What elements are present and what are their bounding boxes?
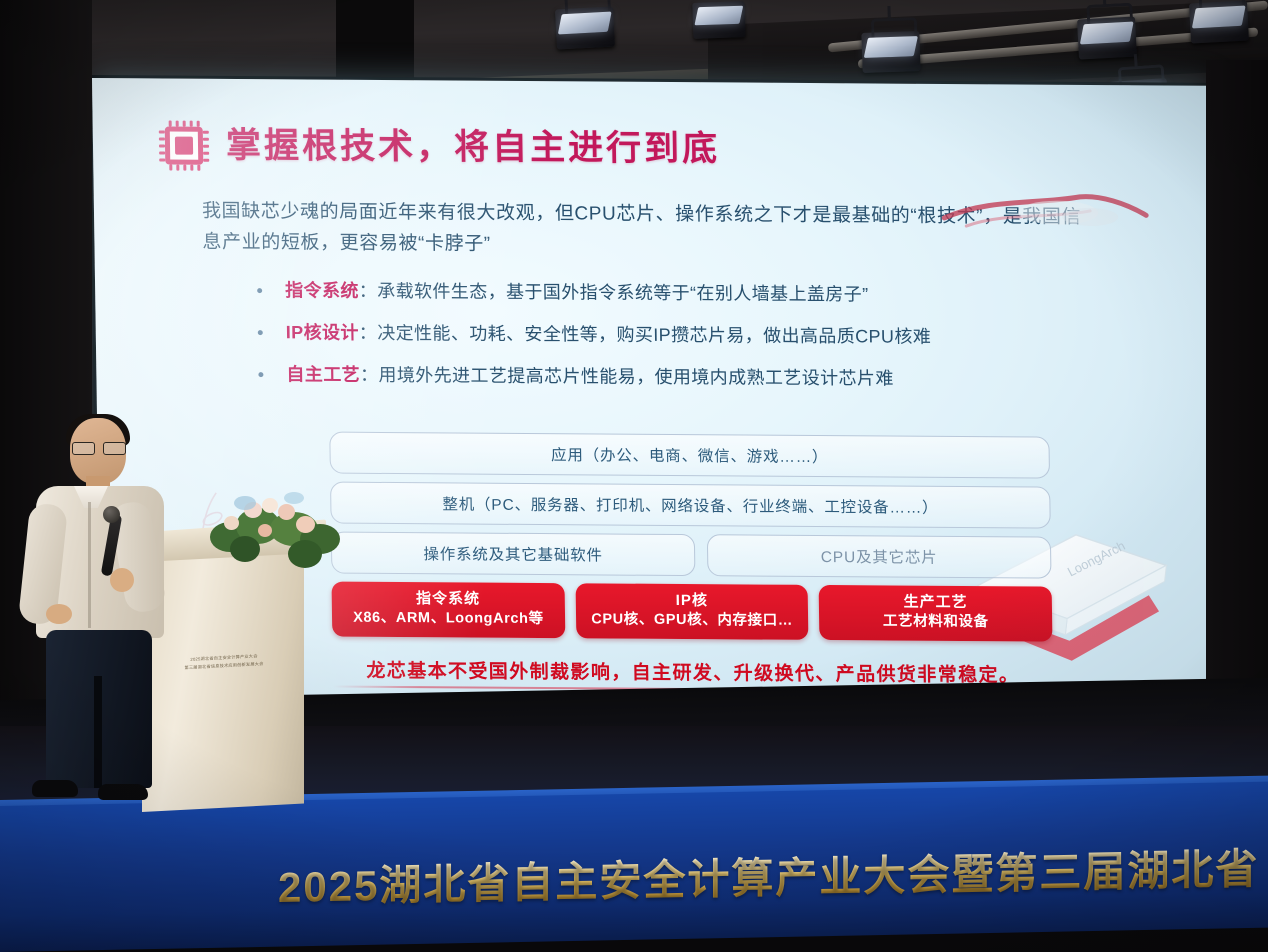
glasses-icon — [72, 442, 124, 453]
root-tech-title: IP核 — [579, 591, 804, 611]
bullet-sep: ： — [359, 281, 378, 301]
chip-icon — [159, 120, 210, 170]
bullet-sep: ： — [359, 323, 378, 343]
conference-photo-scene: 掌握根技术，将自主进行到底 我国缺芯少魂的局面近年来有很大改观，但CPU芯片、操… — [0, 0, 1268, 952]
root-tech-detail: X86、ARM、LoongArch等 — [336, 608, 561, 628]
bullet-text: 用境外先进工艺提高芯片性能易，使用境内成熟工艺设计芯片难 — [378, 365, 894, 389]
bullet-text: 决定性能、功耗、安全性等，购买IP攒芯片易，做出高品质CPU核难 — [377, 323, 931, 347]
speaker-figure — [10, 418, 180, 810]
stack-layer-os: 操作系统及其它基础软件 — [331, 532, 696, 577]
ribbon-watermark-icon — [940, 192, 1151, 239]
slide-title: 掌握根技术，将自主进行到底 — [226, 117, 721, 171]
right-dark-wall — [1206, 60, 1268, 760]
bullet-list: 指令系统：承载软件生态，基于国外指令系统等于“在别人墙基上盖房子” IP核设计：… — [243, 277, 1125, 409]
bullet-sep: ： — [360, 365, 379, 385]
root-tech-detail: CPU核、GPU核、内存接口… — [580, 610, 805, 630]
root-tech-title: 生产工艺 — [823, 593, 1048, 613]
list-item: 指令系统：承载软件生态，基于国外指令系统等于“在别人墙基上盖房子” — [243, 277, 1124, 311]
root-tech-instruction-set: 指令系统 X86、ARM、LoongArch等 — [331, 582, 565, 638]
speaker-right-hand — [110, 568, 134, 592]
microphone-head-icon — [103, 506, 120, 523]
root-tech-detail: 工艺材料和设备 — [823, 612, 1048, 632]
stage-light-icon — [1077, 17, 1137, 60]
root-tech-row: 指令系统 X86、ARM、LoongArch等 IP核 CPU核、GPU核、内存… — [331, 582, 1052, 642]
flower-arrangement — [200, 490, 350, 576]
root-tech-manufacturing: 生产工艺 工艺材料和设备 — [819, 585, 1053, 641]
stack-layer-machine: 整机（PC、服务器、打印机、网络设备、行业终端、工控设备……） — [330, 482, 1051, 529]
bullet-term: 自主工艺 — [286, 364, 360, 385]
root-tech-ip-core: IP核 CPU核、GPU核、内存接口… — [575, 583, 809, 639]
speaker-right-shoe — [98, 784, 148, 800]
list-item: 自主工艺：用境外先进工艺提高芯片性能易，使用境内成熟工艺设计芯片难 — [244, 361, 1125, 395]
tech-stack-diagram: 应用（办公、电商、微信、游戏……） 整机（PC、服务器、打印机、网络设备、行业终… — [329, 432, 1052, 642]
bullet-term: 指令系统 — [285, 280, 359, 301]
podium-sign-line2: 第三届湖北省信息技术应用创新发展大会 — [185, 661, 264, 671]
stage-light-icon — [555, 7, 615, 50]
speaker-left-hand — [46, 604, 72, 624]
stage-light-icon — [692, 1, 745, 39]
stack-layer-application: 应用（办公、电商、微信、游戏……） — [329, 432, 1050, 479]
root-tech-title: 指令系统 — [336, 590, 561, 610]
stage-light-icon — [1189, 1, 1249, 44]
stack-row-os-cpu: 操作系统及其它基础软件 CPU及其它芯片 — [331, 532, 1052, 579]
bullet-term: IP核设计 — [286, 322, 359, 343]
speaker-leg-gap — [94, 676, 102, 788]
stage-light-icon — [861, 31, 920, 73]
stack-layer-cpu: CPU及其它芯片 — [707, 534, 1052, 578]
speaker-left-shoe — [32, 780, 78, 797]
speaker-shirt-placket — [88, 502, 91, 628]
bullet-text: 承载软件生态，基于国外指令系统等于“在别人墙基上盖房子” — [377, 281, 869, 304]
list-item: IP核设计：决定性能、功耗、安全性等，购买IP攒芯片易，做出高品质CPU核难 — [244, 319, 1125, 353]
